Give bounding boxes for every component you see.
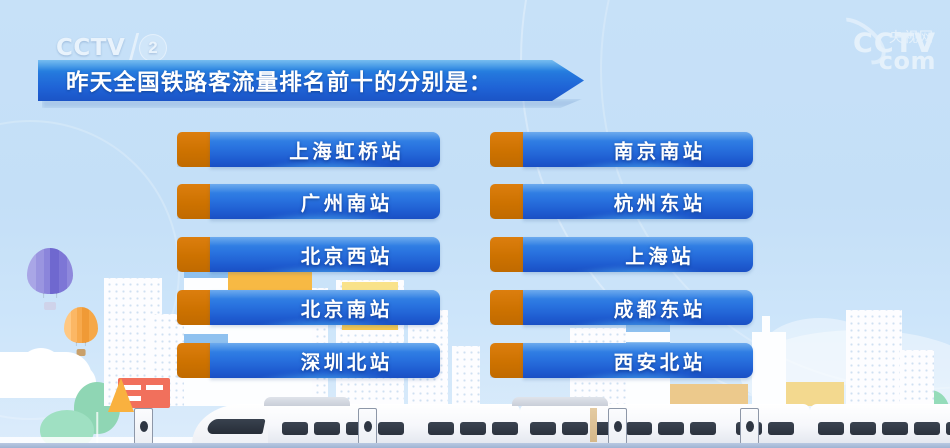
list-item[interactable]: 西安北站 (490, 343, 753, 378)
train-door (740, 408, 759, 444)
channel-number: 2 (139, 34, 167, 62)
cctv-channel-bug: CCTV 2 (56, 33, 167, 63)
list-item[interactable]: 广州南站 (177, 184, 440, 219)
station-name: 上海虹桥站 (250, 132, 440, 167)
screenshot-stage: CCTV 2 CCTV 央视网 com 昨天全国铁路客流量排名前十的分别是： 上… (0, 0, 950, 448)
high-speed-train-icon (0, 388, 950, 448)
list-item[interactable]: 成都东站 (490, 290, 753, 325)
station-name: 上海站 (563, 237, 753, 272)
station-name: 成都东站 (563, 290, 753, 325)
train-door (608, 408, 627, 444)
train-door (358, 408, 377, 444)
hot-air-balloon-icon (64, 307, 98, 357)
station-name: 北京西站 (250, 237, 440, 272)
list-item[interactable]: 北京西站 (177, 237, 440, 272)
list-item[interactable]: 上海虹桥站 (177, 132, 440, 167)
list-item[interactable]: 南京南站 (490, 132, 753, 167)
page-title: 昨天全国铁路客流量排名前十的分别是： (38, 65, 493, 97)
station-name: 南京南站 (563, 132, 753, 167)
city-skyline-icon (762, 316, 770, 336)
platform-pillar (590, 408, 597, 442)
list-item[interactable]: 深圳北站 (177, 343, 440, 378)
train-car (520, 404, 810, 444)
rail (0, 443, 950, 448)
station-name: 西安北站 (563, 343, 753, 378)
station-name: 广州南站 (250, 184, 440, 219)
train-car (810, 404, 950, 444)
train-door (134, 408, 153, 444)
station-name: 杭州东站 (563, 184, 753, 219)
train-car (268, 404, 520, 444)
city-skyline-icon (228, 256, 312, 406)
station-name: 北京南站 (250, 290, 440, 325)
station-name: 深圳北站 (250, 343, 440, 378)
hot-air-balloon-icon (27, 248, 73, 312)
headline-banner: 昨天全国铁路客流量排名前十的分别是： (38, 60, 584, 101)
list-item[interactable]: 杭州东站 (490, 184, 753, 219)
list-item[interactable]: 上海站 (490, 237, 753, 272)
train-windshield (206, 419, 265, 434)
cctv-wordmark: CCTV (56, 35, 125, 61)
list-item[interactable]: 北京南站 (177, 290, 440, 325)
